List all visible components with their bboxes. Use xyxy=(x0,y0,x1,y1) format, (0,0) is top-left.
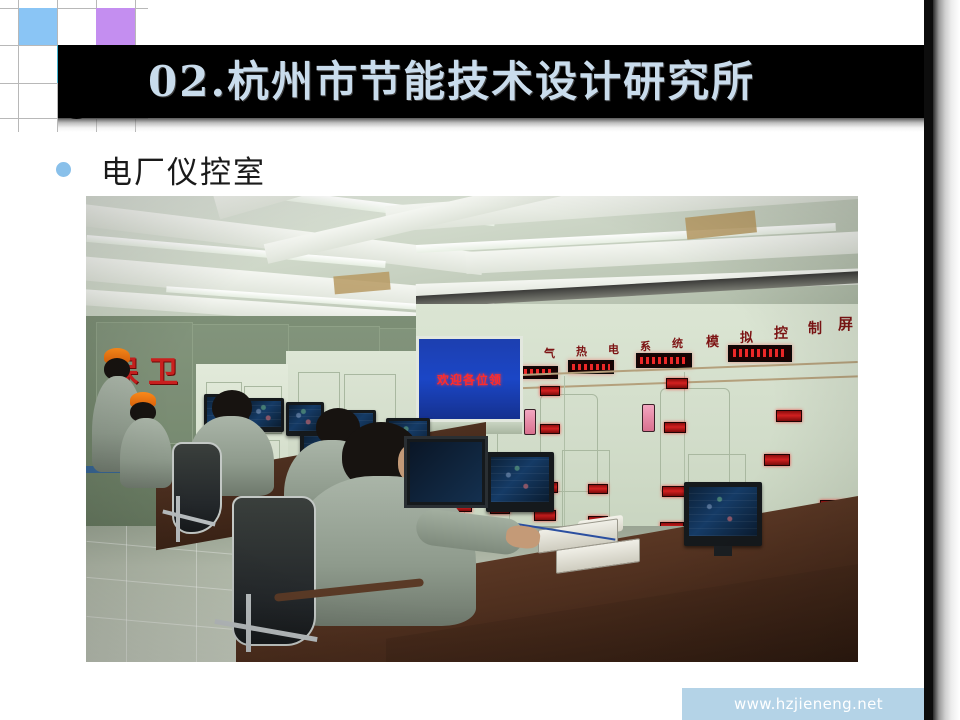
control-room-photo: 保卫科 杭 州 市 燃 气 热 电 系 统 模 拟 控 制 屏 HH xyxy=(86,196,858,662)
bullet-dot-icon xyxy=(56,162,71,177)
slide-right-edge-band xyxy=(924,0,933,720)
decor-square-purple xyxy=(96,8,135,45)
footer-url-label[interactable]: www.hzjieneng.net xyxy=(682,688,935,720)
bullet-label: 电厂仪控室 xyxy=(101,147,266,192)
page-title: 02.杭州市节能技术设计研究所 xyxy=(148,47,755,117)
slide-right-edge-gloss xyxy=(933,0,960,720)
decor-circle-black xyxy=(58,84,95,119)
bullet-row: 电厂仪控室 xyxy=(56,148,266,190)
decor-square-blue xyxy=(19,8,57,45)
footer-bar: www.hzjieneng.net xyxy=(682,688,935,720)
title-bar-shadow xyxy=(58,118,925,132)
slide-canvas: 02.杭州市节能技术设计研究所 电厂仪控室 保卫科 xyxy=(0,0,960,720)
photo-vignette xyxy=(86,196,858,662)
